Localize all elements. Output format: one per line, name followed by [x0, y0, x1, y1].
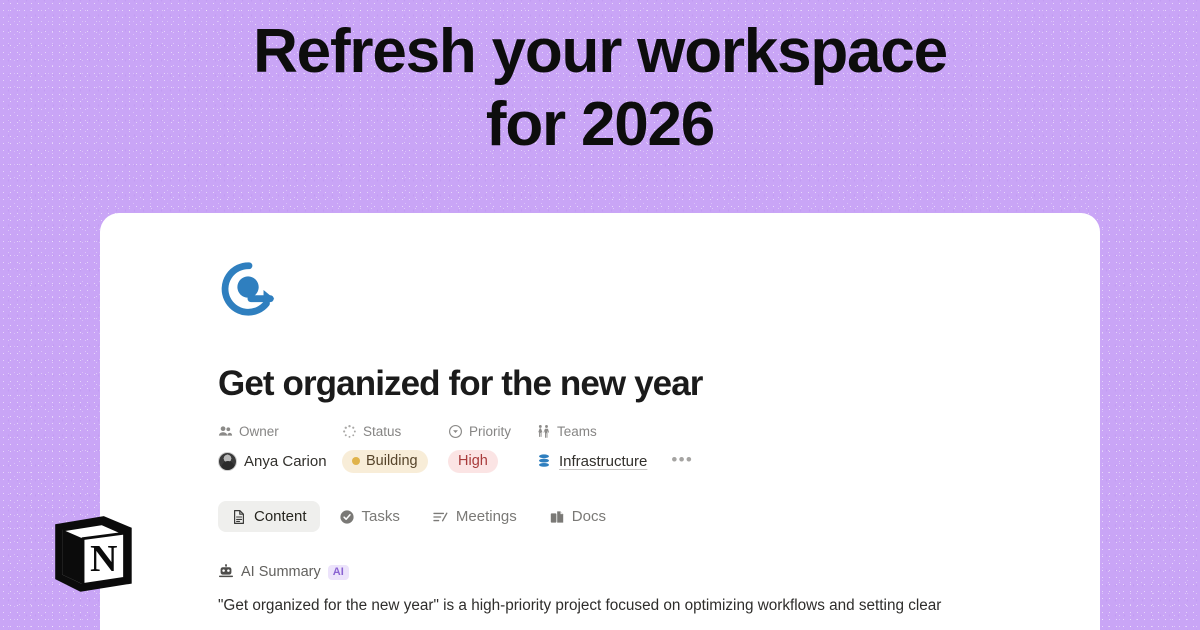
status-text: Building [366, 454, 418, 469]
property-teams[interactable]: Teams Infrastructure [536, 421, 647, 473]
database-stack-icon [536, 453, 552, 469]
docs-stack-icon [549, 509, 565, 525]
tab-content[interactable]: Content [218, 501, 320, 532]
property-owner-header: Owner [218, 421, 342, 441]
status-badge[interactable]: Building [342, 450, 428, 473]
property-row: Owner Anya Carion [218, 421, 1100, 473]
team-name-link[interactable]: Infrastructure [559, 453, 647, 470]
tab-bar: Content Tasks Meetings [218, 501, 1100, 532]
property-owner[interactable]: Owner Anya Carion [218, 421, 342, 473]
people-group-icon [218, 424, 233, 439]
property-owner-label: Owner [239, 424, 279, 439]
property-status-value[interactable]: Building [342, 449, 448, 473]
property-teams-label: Teams [557, 424, 597, 439]
check-circle-icon [339, 509, 355, 525]
property-owner-value[interactable]: Anya Carion [218, 449, 342, 473]
more-options-button[interactable]: ••• [671, 450, 693, 470]
page-headline: Refresh your workspace for 2026 [0, 16, 1200, 161]
owner-name: Anya Carion [244, 453, 327, 470]
chevron-circle-icon [448, 424, 463, 439]
status-dot-icon [352, 457, 360, 465]
property-status-header: Status [342, 421, 448, 441]
robot-icon [218, 564, 234, 580]
page-title: Get organized for the new year [218, 364, 1100, 404]
priority-badge[interactable]: High [448, 450, 498, 473]
headline-line-2: for 2026 [0, 89, 1200, 162]
property-priority-label: Priority [469, 424, 511, 439]
tab-meetings[interactable]: Meetings [419, 501, 530, 532]
property-status-label: Status [363, 424, 401, 439]
ai-summary-body: "Get organized for the new year" is a hi… [218, 594, 963, 618]
lines-pencil-icon [432, 509, 449, 525]
property-priority-value[interactable]: High [448, 449, 536, 473]
ai-summary-label: AI Summary [241, 564, 321, 580]
spinner-dots-icon [342, 424, 357, 439]
ai-badge: AI [328, 565, 349, 580]
circular-arrow-logo [218, 258, 280, 320]
property-teams-header: Teams [536, 421, 647, 441]
notion-cube-logo: N [48, 508, 138, 598]
tab-tasks-label: Tasks [362, 508, 400, 525]
tab-content-label: Content [254, 508, 307, 525]
tab-meetings-label: Meetings [456, 508, 517, 525]
headline-line-1: Refresh your workspace [0, 16, 1200, 89]
tab-tasks[interactable]: Tasks [326, 501, 413, 532]
property-priority-header: Priority [448, 421, 536, 441]
ai-summary-header: AI Summary AI [218, 564, 1100, 580]
priority-text: High [458, 454, 488, 469]
property-teams-value[interactable]: Infrastructure [536, 449, 647, 473]
avatar [218, 452, 237, 471]
document-icon [231, 509, 247, 525]
notion-logo-letter: N [90, 538, 117, 580]
two-people-icon [536, 424, 551, 439]
project-card: Get organized for the new year Owner Any… [100, 213, 1100, 630]
tab-docs[interactable]: Docs [536, 501, 619, 532]
property-status[interactable]: Status Building [342, 421, 448, 473]
property-priority[interactable]: Priority High [448, 421, 536, 473]
tab-docs-label: Docs [572, 508, 606, 525]
